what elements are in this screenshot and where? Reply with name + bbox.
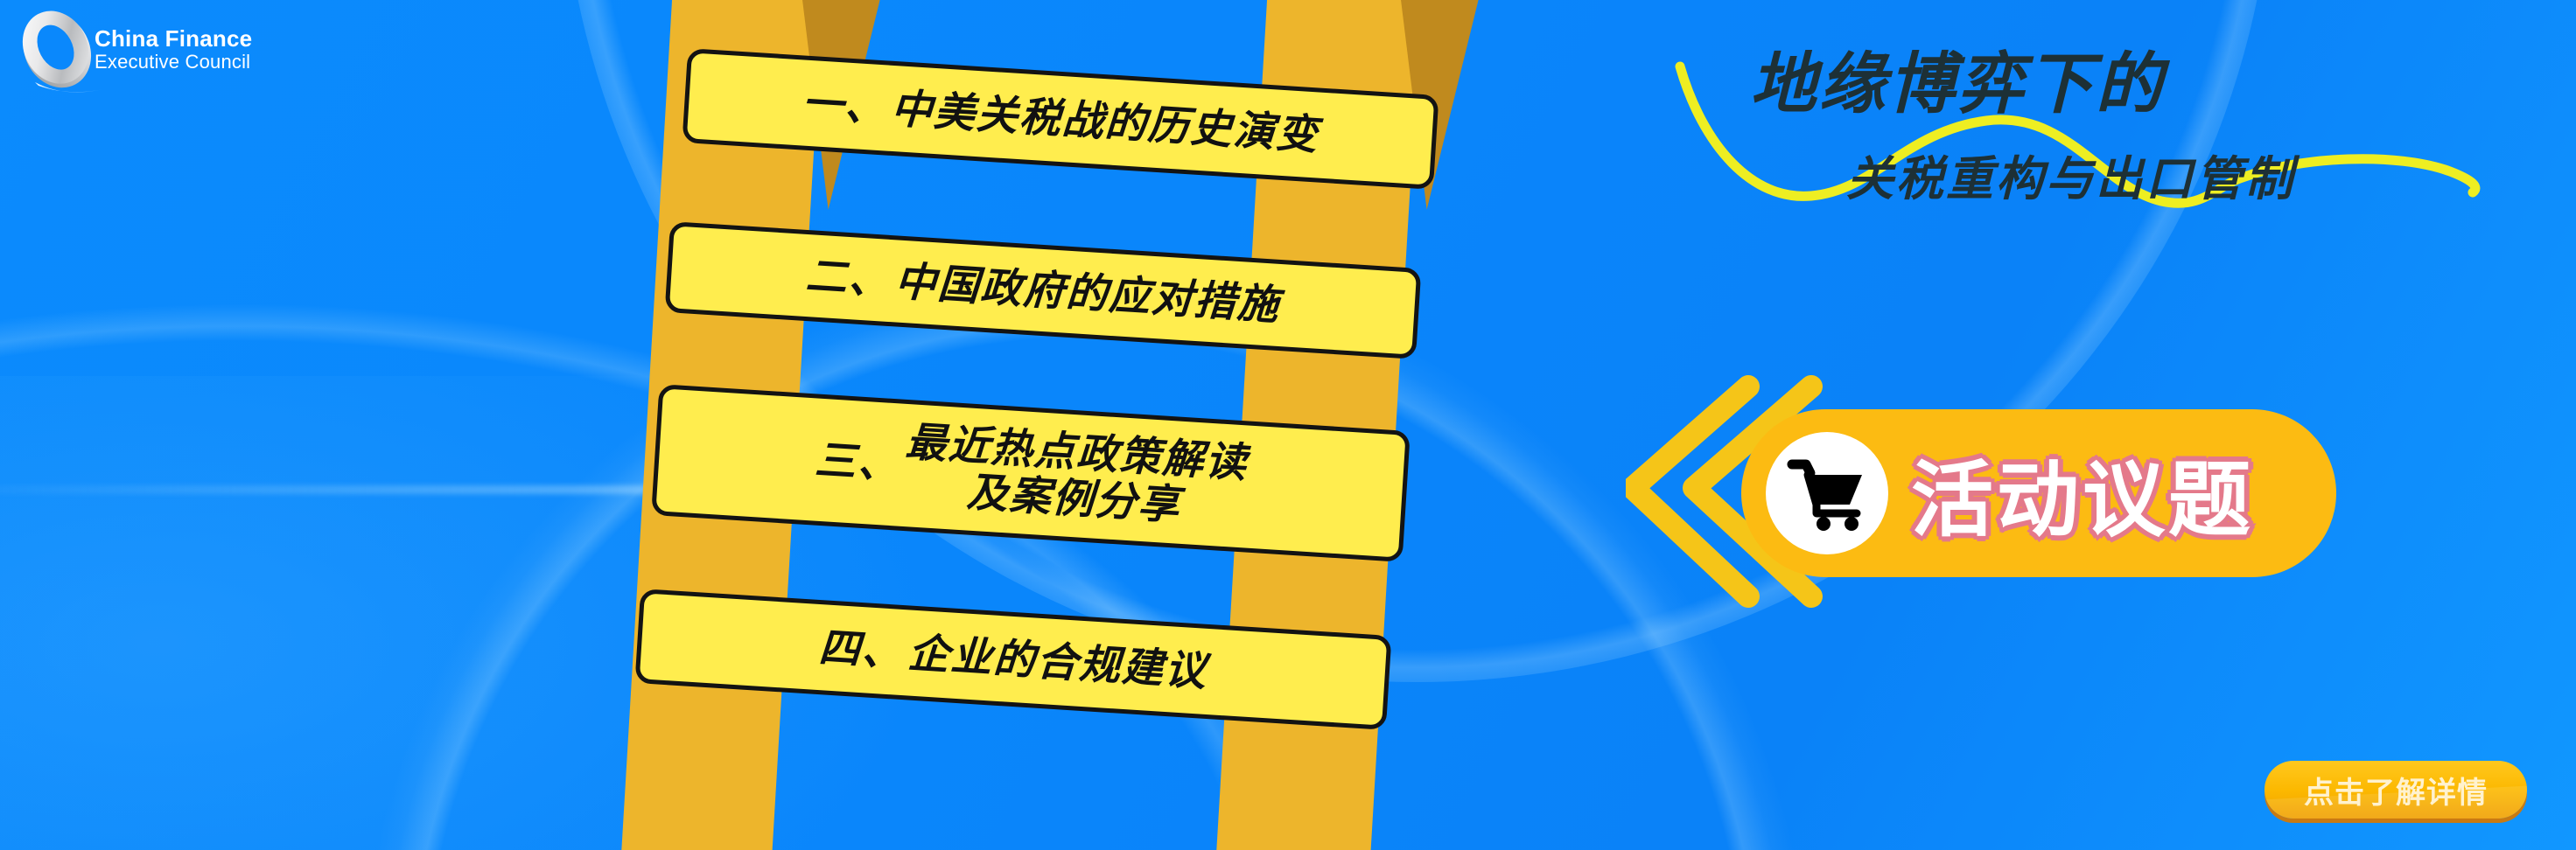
- agenda-card[interactable]: 二、 中国政府的应对措施: [665, 221, 1422, 359]
- agenda-card[interactable]: 一、 中美关税战的历史演变: [682, 48, 1438, 190]
- cta-button[interactable]: 点击了解详情: [2264, 761, 2527, 819]
- agenda-card-index: 二、: [804, 253, 892, 304]
- topic-badge[interactable]: 活动议题: [1741, 409, 2336, 577]
- promo-banner: China Finance Executive Council 一、 中美关税战…: [0, 0, 2576, 850]
- agenda-card[interactable]: 四、 企业的合规建议: [634, 589, 1391, 730]
- agenda-card-index: 一、: [801, 80, 889, 131]
- agenda-card-index: 三、: [814, 436, 902, 488]
- shopping-cart-icon: [1787, 456, 1867, 531]
- headline-subtitle: 关税重构与出口管制: [1846, 140, 2520, 209]
- headline-title: 地缘博弈下的: [1750, 30, 2520, 126]
- topic-badge-label: 活动议题: [1911, 434, 2254, 553]
- cta-button-label: 点击了解详情: [2304, 769, 2488, 812]
- agenda-card-label: 中国政府的应对措施: [893, 258, 1281, 328]
- agenda-card-label-stack: 最近热点政策解读 及案例分享: [901, 419, 1249, 533]
- headline-block: 地缘博弈下的 关税重构与出口管制: [1680, 16, 2520, 234]
- cart-icon-circle: [1766, 432, 1888, 554]
- agenda-card-list: 一、 中美关税战的历史演变 二、 中国政府的应对措施 三、 最近热点政策解读 及…: [0, 0, 1487, 850]
- agenda-card-index: 四、: [817, 624, 906, 676]
- agenda-card-label: 中美关税战的历史演变: [890, 86, 1320, 158]
- agenda-card-label: 企业的合规建议: [906, 630, 1209, 694]
- agenda-card[interactable]: 三、 最近热点政策解读 及案例分享: [651, 384, 1410, 562]
